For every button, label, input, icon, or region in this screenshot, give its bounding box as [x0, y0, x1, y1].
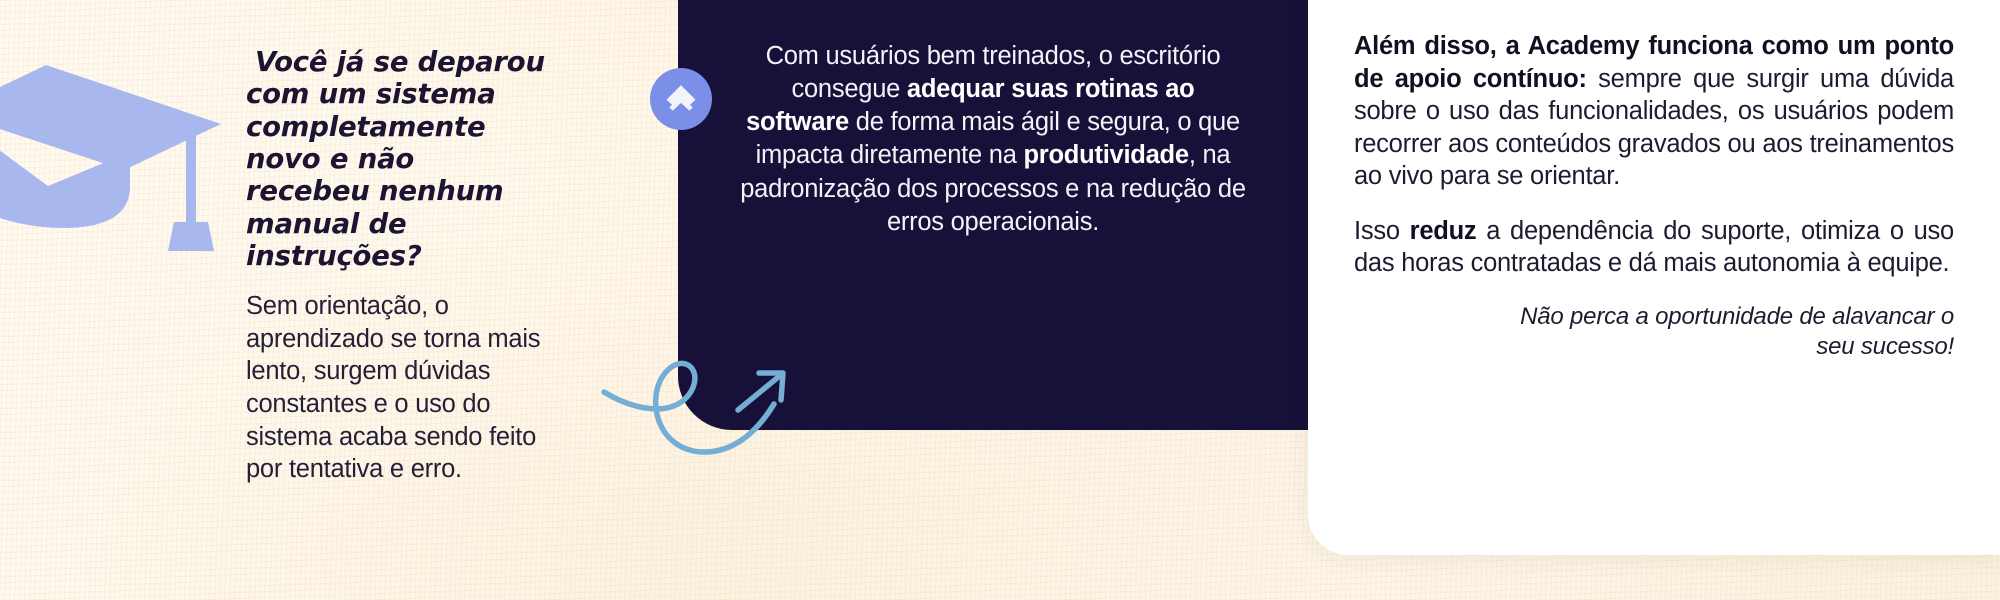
card-text-column: Além disso, a Academy funciona como um p… [1354, 30, 1954, 363]
dark-panel-paragraph: Com usuários bem treinados, o escritório… [678, 40, 1308, 239]
graduation-cap-icon [0, 52, 228, 252]
card-paragraph-2: Isso reduz a dependência do suporte, oti… [1354, 215, 1954, 280]
card-paragraph-1: Além disso, a Academy funciona como um p… [1354, 30, 1954, 193]
double-chevron-up-icon [661, 77, 701, 122]
lead-question-heading: Você já se deparou com um sistema comple… [246, 46, 546, 272]
slide-canvas: Você já se deparou com um sistema comple… [0, 0, 2000, 600]
left-body-paragraph: Sem orientação, o aprendizado se torna m… [246, 290, 546, 486]
card-outro-callout: Não perca a oportunidade de alavancar o … [1354, 302, 1954, 363]
left-text-column: Você já se deparou com um sistema comple… [246, 46, 546, 486]
chevron-badge-button[interactable] [650, 68, 712, 130]
